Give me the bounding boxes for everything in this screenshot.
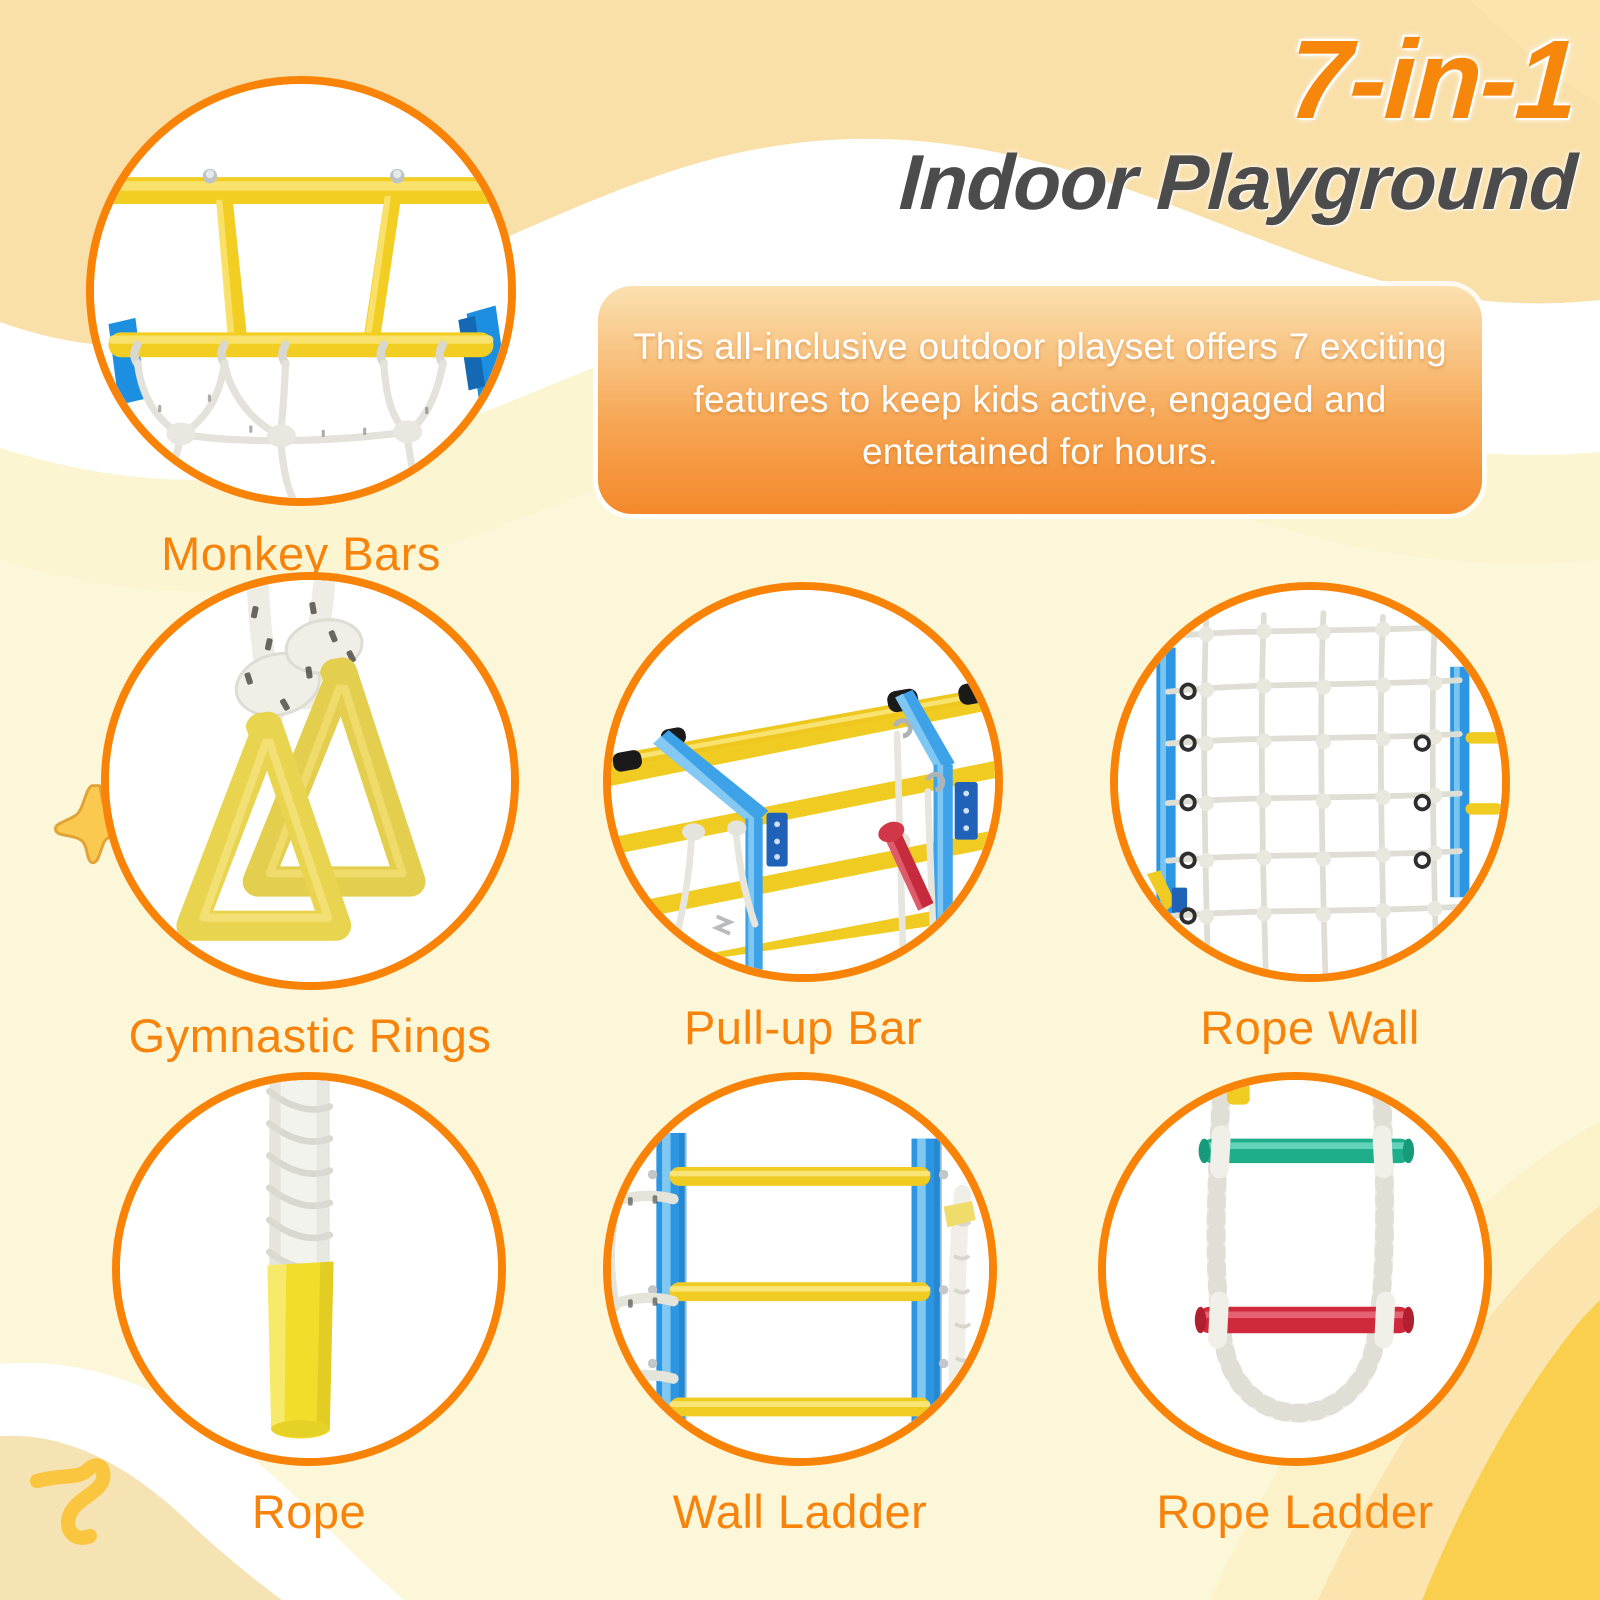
header: 7-in-1 Indoor Playground (600, 24, 1576, 224)
wall-ladder-photo (611, 1080, 989, 1458)
monkey-bars-photo (94, 84, 508, 498)
feature-image-circle (603, 1072, 997, 1466)
feature-rope-ladder[interactable]: Rope Ladder (1098, 1072, 1492, 1535)
feature-label-monkey-bars: Monkey Bars (86, 530, 516, 577)
feature-label-rope: Rope (112, 1488, 506, 1535)
feature-image-circle (86, 76, 516, 506)
pull-up-bar-photo (611, 590, 995, 974)
feature-label-rope-ladder: Rope Ladder (1098, 1488, 1492, 1535)
feature-image-circle (101, 572, 519, 990)
feature-image-circle (603, 582, 1003, 982)
rope-photo (120, 1080, 498, 1458)
description-panel: This all-inclusive outdoor playset offer… (598, 286, 1482, 514)
feature-monkey-bars[interactable]: Monkey Bars (86, 76, 516, 577)
feature-label-rope-wall: Rope Wall (1110, 1004, 1510, 1051)
feature-gymnastic-rings[interactable]: Gymnastic Rings (101, 572, 519, 1059)
feature-rope-wall[interactable]: Rope Wall (1110, 582, 1510, 1051)
feature-label-gymnastic-rings: Gymnastic Rings (101, 1012, 519, 1059)
feature-label-wall-ladder: Wall Ladder (603, 1488, 997, 1535)
gymnastic-rings-photo (109, 580, 511, 982)
page-title-primary: 7-in-1 (597, 24, 1579, 136)
feature-rope[interactable]: Rope (112, 1072, 506, 1535)
feature-image-circle (112, 1072, 506, 1466)
rope-ladder-photo (1106, 1080, 1484, 1458)
feature-image-circle (1098, 1072, 1492, 1466)
feature-image-circle (1110, 582, 1510, 982)
rope-wall-photo (1118, 590, 1502, 974)
feature-pull-up-bar[interactable]: Pull-up Bar (603, 582, 1003, 1051)
page-title-secondary: Indoor Playground (598, 142, 1578, 224)
description-text: This all-inclusive outdoor playset offer… (598, 321, 1482, 479)
feature-wall-ladder[interactable]: Wall Ladder (603, 1072, 997, 1535)
feature-label-pull-up-bar: Pull-up Bar (603, 1004, 1003, 1051)
